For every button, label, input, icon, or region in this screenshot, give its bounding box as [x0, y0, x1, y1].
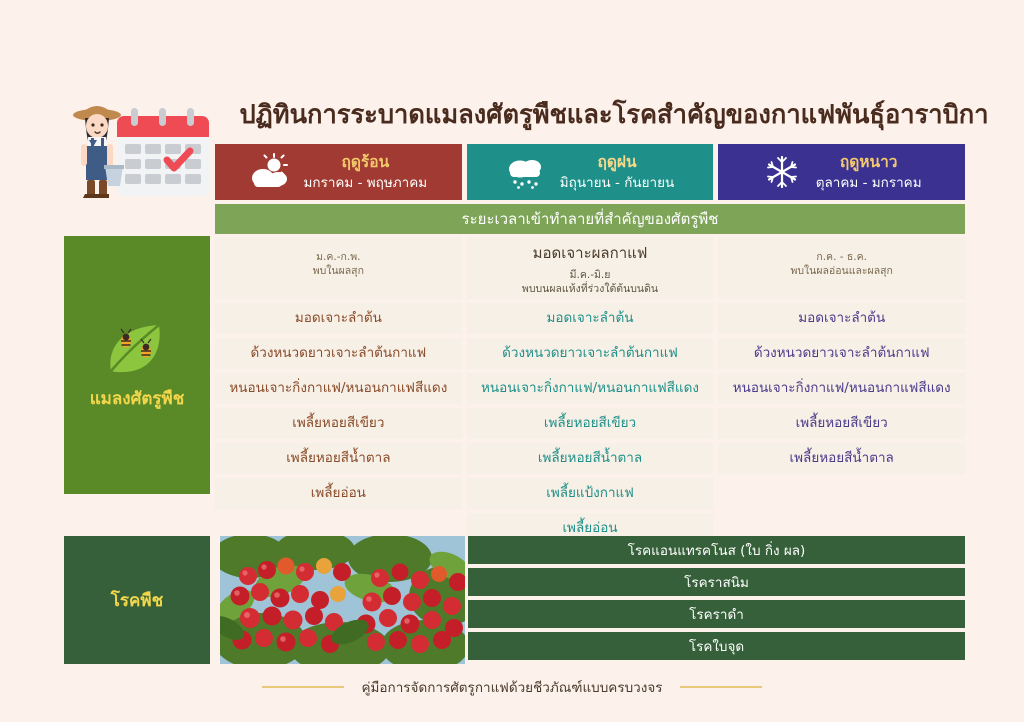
rain-cloud-icon: [506, 153, 546, 191]
pest-table: มอดเจาะผลกาแฟ ม.ค.-ก.พ. พบในผลสุก มี.ค.-…: [215, 237, 965, 548]
borer-note-winter-detail: พบในผลอ่อนและผลสุก: [790, 265, 892, 277]
infographic-page: ปฏิทินการระบาดแมลงศัตรูพืชและโรคสำคัญของ…: [0, 0, 1024, 722]
season-name-summer: ฤดูร้อน: [341, 153, 389, 171]
pest-cell: เพลี้ยหอยสีน้ำตาล: [467, 443, 714, 474]
pest-table-row: ด้วงหนวดยาวเจาะลำต้นกาแฟ ด้วงหนวดยาวเจาะ…: [215, 338, 965, 369]
season-name-rainy: ฤดูฝน: [597, 153, 636, 171]
season-header-rainy-text: ฤดูฝน มิถุนายน - กันยายน: [560, 152, 675, 191]
pest-cell: เพลี้ยหอยสีเขียว: [718, 408, 965, 439]
snowflake-icon: [762, 153, 802, 191]
season-header-winter[interactable]: ฤดูหนาว ตุลาคม - มกราคม: [718, 144, 965, 200]
pest-cell: หนอนเจาะกิ่งกาแฟ/หนอนกาแฟสีแดง: [215, 373, 462, 404]
coffee-cherries-photo: [220, 536, 465, 664]
pest-cell: เพลี้ยหอยสีน้ำตาล: [215, 443, 462, 474]
pest-table-row: มอดเจาะลำต้น มอดเจาะลำต้น มอดเจาะลำต้น: [215, 303, 965, 334]
pest-cell: มอดเจาะลำต้น: [467, 303, 714, 334]
pest-cell: ด้วงหนวดยาวเจาะลำต้นกาแฟ: [718, 338, 965, 369]
season-months-summer: มกราคม - พฤษภาคม: [304, 175, 428, 191]
pest-cell: หนอนเจาะกิ่งกาแฟ/หนอนกาแฟสีแดง: [467, 373, 714, 404]
sidebar-diseases: โรคพืช: [64, 536, 210, 664]
pest-cell: เพลี้ยแป้งกาแฟ: [467, 478, 714, 509]
borer-note-summer-detail: พบในผลสุก: [313, 265, 364, 277]
pest-table-row: หนอนเจาะกิ่งกาแฟ/หนอนกาแฟสีแดง หนอนเจาะก…: [215, 373, 965, 404]
season-header-winter-text: ฤดูหนาว ตุลาคม - มกราคม: [816, 152, 922, 191]
footer-line-left: [262, 686, 344, 688]
page-title: ปฏิทินการระบาดแมลงศัตรูพืชและโรคสำคัญของ…: [214, 100, 1014, 131]
footer-text: คู่มือการจัดการศัตรูกาแฟด้วยชีวภัณฑ์แบบค…: [362, 676, 663, 698]
disease-row: โรคใบจุด: [468, 632, 965, 660]
farmer-calendar-illustration: [55, 78, 215, 210]
pest-cell: ด้วงหนวดยาวเจาะลำต้นกาแฟ: [215, 338, 462, 369]
pest-cell: มี.ค.-มิ.ย พบบนผลแห้งที่ร่วงใต้ต้นบนดิน: [467, 237, 714, 299]
borer-note-summer: ม.ค.-ก.พ. พบในผลสุก: [313, 250, 364, 278]
sidebar-diseases-label: โรคพืช: [111, 587, 163, 614]
pest-cell: มอดเจาะลำต้น: [215, 303, 462, 334]
borer-note-rainy-months: มี.ค.-มิ.ย: [570, 269, 611, 281]
borer-note-rainy-detail: พบบนผลแห้งที่ร่วงใต้ต้นบนดิน: [522, 283, 658, 295]
borer-note-winter-months: ก.ค. - ธ.ค.: [816, 251, 867, 263]
borer-note-rainy: มี.ค.-มิ.ย พบบนผลแห้งที่ร่วงใต้ต้นบนดิน: [522, 268, 658, 296]
subtitle-bar: ระยะเวลาเข้าทำลายที่สำคัญของศัตรูพืช: [215, 204, 965, 234]
season-header-bars: ฤดูร้อน มกราคม - พฤษภาคม ฤดูฝน: [215, 144, 965, 200]
season-name-winter: ฤดูหนาว: [840, 153, 898, 171]
pest-cell: เพลี้ยอ่อน: [215, 478, 462, 509]
pest-table-borer-row: มอดเจาะผลกาแฟ ม.ค.-ก.พ. พบในผลสุก มี.ค.-…: [215, 237, 965, 299]
disease-row: โรคราสนิม: [468, 568, 965, 596]
borer-note-winter: ก.ค. - ธ.ค. พบในผลอ่อนและผลสุก: [790, 250, 892, 278]
season-header-summer[interactable]: ฤดูร้อน มกราคม - พฤษภาคม: [215, 144, 462, 200]
sun-cloud-icon: [250, 153, 290, 191]
borer-note-summer-months: ม.ค.-ก.พ.: [316, 251, 360, 263]
season-header-summer-text: ฤดูร้อน มกราคม - พฤษภาคม: [304, 152, 428, 191]
pest-table-row: เพลี้ยหอยสีเขียว เพลี้ยหอยสีเขียว เพลี้ย…: [215, 408, 965, 439]
pest-table-row: เพลี้ยอ่อน เพลี้ยแป้งกาแฟ: [215, 478, 965, 509]
pest-cell-empty: [718, 478, 965, 509]
footer: คู่มือการจัดการศัตรูกาแฟด้วยชีวภัณฑ์แบบค…: [0, 676, 1024, 698]
pest-table-row: เพลี้ยหอยสีน้ำตาล เพลี้ยหอยสีน้ำตาล เพลี…: [215, 443, 965, 474]
pest-cell: มอดเจาะลำต้น: [718, 303, 965, 334]
disease-row: โรคแอนแทรคโนส (ใบ กิ่ง ผล): [468, 536, 965, 564]
pest-cell: เพลี้ยหอยสีน้ำตาล: [718, 443, 965, 474]
season-months-winter: ตุลาคม - มกราคม: [816, 175, 922, 191]
footer-line-right: [680, 686, 762, 688]
leaf-with-insects-icon: [99, 319, 175, 379]
pest-cell: ด้วงหนวดยาวเจาะลำต้นกาแฟ: [467, 338, 714, 369]
sidebar-insects-label: แมลงศัตรูพืช: [90, 385, 185, 412]
pest-cell: ม.ค.-ก.พ. พบในผลสุก: [215, 237, 462, 299]
pest-cell: เพลี้ยหอยสีเขียว: [215, 408, 462, 439]
season-header-rainy[interactable]: ฤดูฝน มิถุนายน - กันยายน: [467, 144, 714, 200]
sidebar-insects: แมลงศัตรูพืช: [64, 236, 210, 494]
pest-cell: เพลี้ยหอยสีเขียว: [467, 408, 714, 439]
disease-row: โรคราดำ: [468, 600, 965, 628]
disease-list: โรคแอนแทรคโนส (ใบ กิ่ง ผล) โรคราสนิม โรค…: [468, 536, 965, 664]
pest-cell: ก.ค. - ธ.ค. พบในผลอ่อนและผลสุก: [718, 237, 965, 299]
season-months-rainy: มิถุนายน - กันยายน: [560, 175, 675, 191]
pest-cell: หนอนเจาะกิ่งกาแฟ/หนอนกาแฟสีแดง: [718, 373, 965, 404]
